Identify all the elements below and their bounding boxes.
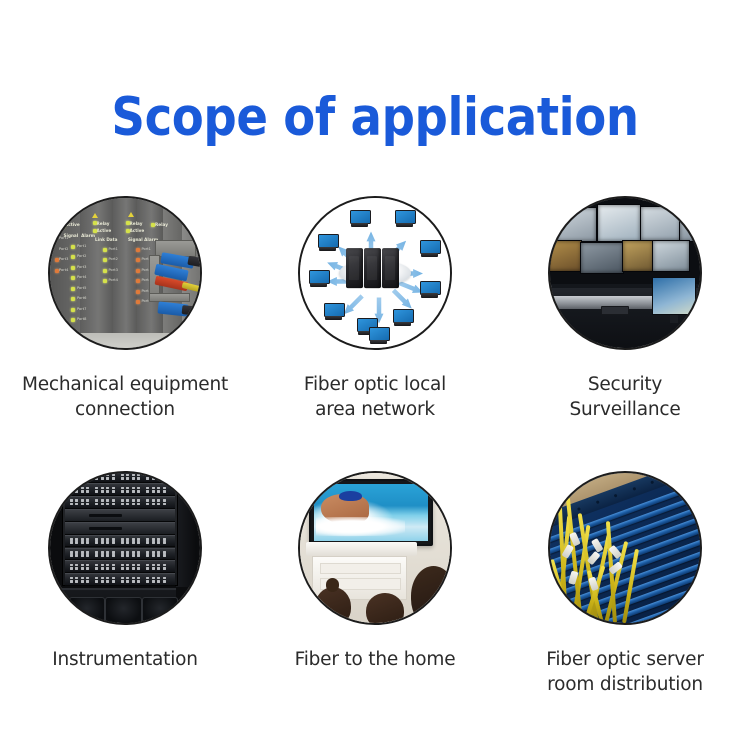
caption-instrumentation: Instrumentation <box>5 647 245 672</box>
keyboard-icon <box>601 306 629 315</box>
caption-line-1: Instrumentation <box>5 647 245 672</box>
caption-line-1: Fiber optic server <box>505 647 745 672</box>
caption-line-2: room distribution <box>505 672 745 697</box>
rack-chassis-illustration <box>50 473 200 623</box>
rack-panel-illustration: Active Signal Alarm Relay Active Link Da… <box>50 198 200 348</box>
application-scope-grid: Active Signal Alarm Relay Active Link Da… <box>0 185 750 735</box>
caption-fiber-optic-local-area-network: Fiber optic local area network <box>255 372 495 422</box>
image-security-surveillance[interactable] <box>548 196 702 350</box>
operator-monitor <box>652 277 696 315</box>
caption-fiber-to-the-home: Fiber to the home <box>255 647 495 672</box>
fiber-patch-panel-illustration <box>550 473 700 623</box>
television <box>309 479 433 546</box>
image-instrumentation[interactable] <box>48 471 202 625</box>
caption-line-2: connection <box>5 397 245 422</box>
living-room-tv-illustration <box>300 473 450 623</box>
scope-item-fiber-to-the-home[interactable]: Fiber to the home <box>250 460 500 735</box>
image-fiber-optic-local-area-network[interactable] <box>298 196 452 350</box>
caption-line-2: Surveillance <box>505 397 745 422</box>
caption-line-1: Fiber to the home <box>255 647 495 672</box>
caption-security-surveillance: Security Surveillance <box>505 372 745 422</box>
scope-item-fiber-optic-local-area-network[interactable]: Fiber optic local area network <box>250 185 500 460</box>
image-fiber-to-the-home[interactable] <box>298 471 452 625</box>
caption-line-2: area network <box>255 397 495 422</box>
scope-item-mechanical-equipment-connection[interactable]: Active Signal Alarm Relay Active Link Da… <box>0 185 250 460</box>
scope-item-fiber-optic-server-room-distribution[interactable]: Fiber optic server room distribution <box>500 460 750 735</box>
scope-item-security-surveillance[interactable]: Security Surveillance <box>500 185 750 460</box>
caption-line-1: Security <box>505 372 745 397</box>
caption-mechanical-equipment-connection: Mechanical equipment connection <box>5 372 245 422</box>
caption-fiber-optic-server-room-distribution: Fiber optic server room distribution <box>505 647 745 697</box>
caption-line-1: Fiber optic local <box>255 372 495 397</box>
scope-item-instrumentation[interactable]: Instrumentation <box>0 460 250 735</box>
lan-star-diagram-illustration <box>300 198 450 348</box>
image-fiber-optic-server-room-distribution[interactable] <box>548 471 702 625</box>
image-mechanical-equipment-connection[interactable]: Active Signal Alarm Relay Active Link Da… <box>48 196 202 350</box>
page-title: Scope of application <box>45 88 705 148</box>
caption-line-1: Mechanical equipment <box>5 372 245 397</box>
surveillance-control-room-illustration <box>550 198 700 348</box>
